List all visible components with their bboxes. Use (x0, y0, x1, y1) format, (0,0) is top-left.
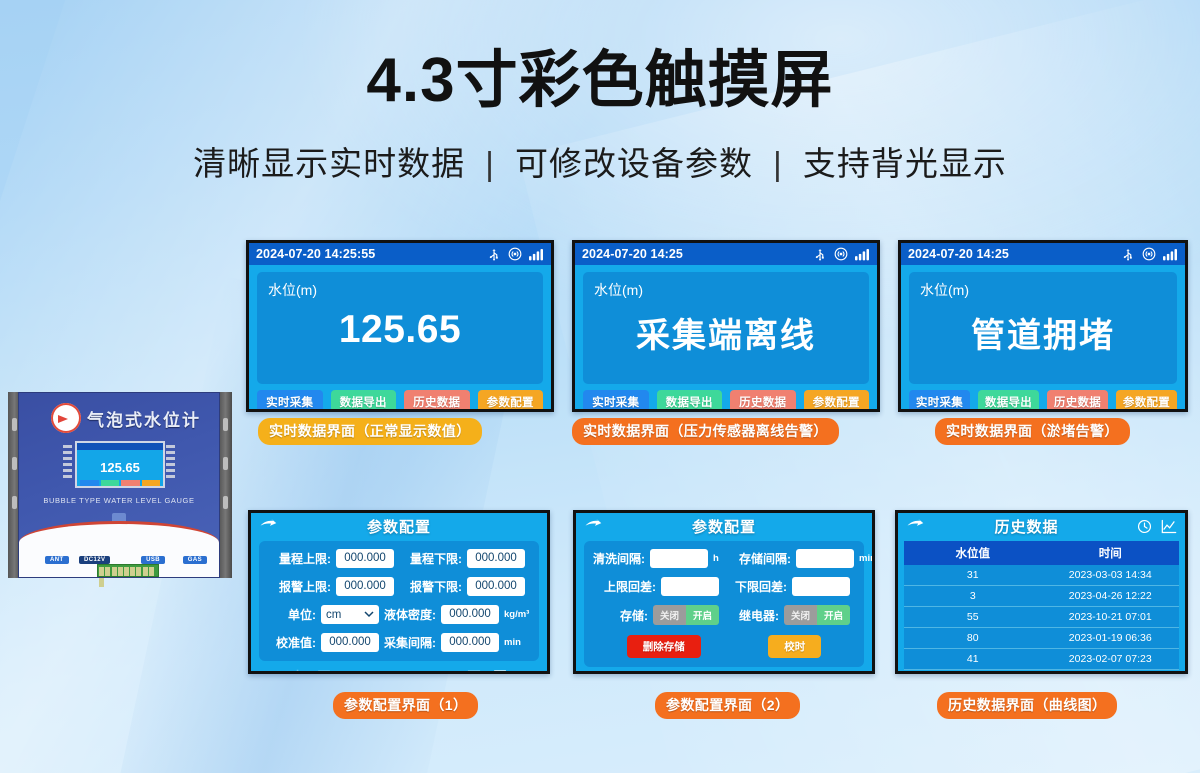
subtitle-part-2: 可修改设备参数 (515, 145, 753, 182)
statusbar: 2024-07-20 14:25 (901, 243, 1185, 265)
delete-storage-button[interactable]: 删除存储 (627, 635, 701, 658)
field-calibration[interactable]: 校准值: 000.000 (268, 633, 384, 652)
statusbar-icons (1120, 247, 1178, 261)
field-unit: min (859, 553, 875, 564)
field-lower-hysteresis[interactable]: 下限回差: (724, 577, 855, 596)
statusbar: 2024-07-20 14:25 (575, 243, 877, 265)
page-subtitle: 清晰显示实时数据 | 可修改设备参数 | 支持背光显示 (0, 137, 1200, 185)
btn-realtime-collect[interactable]: 实时采集 (909, 390, 970, 412)
readout-unit-label: 水位(m) (268, 280, 532, 300)
toggle-storage[interactable]: 存储: 关闭 开启 (593, 605, 724, 625)
lcd-body: 水位(m) 125.65 实时采集 数据导出 历史数据 参数配置 (249, 265, 551, 412)
statusbar-clock: 2024-07-20 14:25:55 (256, 247, 375, 261)
cell-level: 55 (904, 611, 1042, 623)
screen-realtime-clog[interactable]: 2024-07-20 14:25 水位(m) 管道拥堵 实时采集 (898, 240, 1188, 412)
config-action-row: 删除存储 校时 (593, 635, 855, 658)
readout-unit-label: 水位(m) (920, 280, 1166, 300)
back-arrow-icon[interactable] (584, 518, 602, 534)
cell-level: 41 (904, 653, 1042, 665)
table-row[interactable]: 41 2023-02-07 07:23 (904, 649, 1179, 670)
antenna-signal-icon (1142, 247, 1156, 261)
cell-level: 80 (904, 632, 1042, 644)
field-upper-hysteresis[interactable]: 上限回差: (593, 577, 724, 596)
device-brand-label: 气泡式水位计 (87, 406, 201, 431)
device-logo-icon (51, 403, 81, 433)
field-range-upper[interactable]: 量程上限: 000.000 (268, 549, 399, 568)
history-header: 历史数据 (898, 513, 1185, 539)
readout-card: 水位(m) 采集端离线 (583, 272, 869, 384)
toggle-on-option[interactable]: 开启 (817, 605, 850, 625)
back-arrow-icon[interactable] (259, 518, 277, 534)
page-header: 4.3寸彩色触摸屏 清晰显示实时数据 | 可修改设备参数 | 支持背光显示 (0, 48, 1200, 185)
device-lcd-statusbar (77, 443, 163, 450)
btn-history-data[interactable]: 历史数据 (1047, 390, 1108, 412)
field-liquid-density[interactable]: 液体密度: 000.000 kg/m³ (384, 605, 530, 624)
lcd-body: 水位(m) 管道拥堵 实时采集 数据导出 历史数据 参数配置 (901, 265, 1185, 412)
config-header: 参数配置 (576, 513, 872, 539)
signal-bars-icon (1163, 248, 1178, 261)
lcd-body: 水位(m) 采集端离线 实时采集 数据导出 历史数据 参数配置 (575, 265, 877, 412)
cell-time: 2023-01-19 06:36 (1042, 632, 1180, 644)
field-collect-interval[interactable]: 采集间隔: 000.000 min (384, 633, 530, 652)
statusbar-clock: 2024-07-20 14:25 (582, 247, 683, 261)
table-row[interactable]: 55 2023-10-21 07:01 (904, 607, 1179, 628)
field-label: 量程上限: (279, 550, 331, 567)
field-label: 报警上限: (279, 578, 331, 595)
btn-history-data[interactable]: 历史数据 (730, 390, 796, 412)
toggle-relay[interactable]: 继电器: 关闭 开启 (724, 605, 855, 625)
caption-config-2: 参数配置界面（2） (655, 692, 800, 719)
config-row: 单位: cm 液体密度: 000.000 kg/m³ (268, 605, 530, 624)
field-input[interactable]: 000.000 (336, 549, 394, 568)
config-pager: ❮ 上一页 下一页 ❯ (576, 667, 872, 674)
caption-history: 历史数据界面（曲线图） (937, 692, 1117, 719)
subtitle-separator-1: | (475, 145, 505, 182)
unit-dropdown-value: cm (326, 609, 341, 621)
chevron-down-icon (364, 611, 374, 618)
device-port-dc12v: DC12V (79, 556, 110, 564)
config-row: 清洗间隔: h 存储间隔: min (593, 549, 855, 568)
caption-config-1: 参数配置界面（1） (333, 692, 478, 719)
btn-history-data[interactable]: 历史数据 (404, 390, 470, 412)
field-wash-interval[interactable]: 清洗间隔: h (593, 549, 739, 568)
cell-time: 2023-04-26 12:22 (1042, 590, 1180, 602)
relay-toggle[interactable]: 关闭 开启 (784, 605, 850, 625)
usb-icon (812, 248, 827, 261)
readout-card: 水位(m) 管道拥堵 (909, 272, 1177, 384)
config-pager: ❮ 上一页 下一页 ❯ (251, 661, 547, 674)
field-input[interactable] (792, 577, 850, 596)
field-range-lower[interactable]: 量程下限: 000.000 (399, 549, 530, 568)
device-lcd-buttons (80, 480, 160, 487)
caption-realtime-normal: 实时数据界面（正常显示数值） (258, 418, 482, 445)
usb-icon (1120, 248, 1135, 261)
screen-config-1[interactable]: 参数配置 量程上限: 000.000 量程下限: 000.000 报警上限: 0… (248, 510, 550, 674)
config-title: 参数配置 (602, 516, 846, 537)
config-row: 量程上限: 000.000 量程下限: 000.000 (268, 549, 530, 568)
field-unit: h (713, 553, 739, 564)
btn-data-export[interactable]: 数据导出 (978, 390, 1039, 412)
line-chart-icon[interactable] (1161, 519, 1177, 534)
history-title: 历史数据 (924, 516, 1129, 537)
screen-config-2[interactable]: 参数配置 清洗间隔: h 存储间隔: min 上限回差: 下限回差: (573, 510, 875, 674)
toggle-off-option[interactable]: 关闭 (653, 605, 686, 625)
field-alarm-upper[interactable]: 报警上限: 000.000 (268, 577, 399, 596)
cell-time: 2023-02-07 07:23 (1042, 653, 1180, 665)
field-unit-select[interactable]: 单位: cm (268, 605, 384, 624)
toggle-label: 继电器: (739, 607, 779, 624)
toggle-on-option[interactable]: 开启 (686, 605, 719, 625)
device-port-gas: GAS (183, 556, 207, 564)
cell-level: 3 (904, 590, 1042, 602)
btn-data-export[interactable]: 数据导出 (331, 390, 397, 412)
prev-page-label: 上一页 (292, 669, 331, 674)
config-row: 报警上限: 000.000 报警下限: 000.000 (268, 577, 530, 596)
field-label: 上限回差: (604, 578, 656, 595)
signal-bars-icon (855, 248, 870, 261)
cell-time: 2023-10-21 07:01 (1042, 611, 1180, 623)
nav-buttons: 实时采集 数据导出 历史数据 参数配置 (257, 384, 543, 412)
caption-realtime-clog: 实时数据界面（淤堵告警） (935, 418, 1130, 445)
device-port-usb: USB (141, 556, 165, 564)
table-row[interactable]: 80 2023-01-19 06:36 (904, 628, 1179, 649)
btn-data-export[interactable]: 数据导出 (657, 390, 723, 412)
column-header-time: 时间 (1042, 545, 1180, 561)
subtitle-part-1: 清晰显示实时数据 (193, 145, 465, 182)
next-page-button[interactable]: 下一页 ❯ (792, 672, 846, 674)
statusbar-icons (812, 247, 870, 261)
field-label: 清洗间隔: (593, 550, 645, 567)
field-label: 量程下限: (410, 550, 462, 567)
clock-icon[interactable] (1137, 519, 1152, 534)
next-page-label: 下一页 (467, 669, 506, 674)
screen-history[interactable]: 历史数据 水位值 时间 31 2023-03-03 14:34 3 2023-0… (895, 510, 1188, 674)
readout-alarm-text: 管道拥堵 (909, 308, 1177, 357)
column-header-level: 水位值 (904, 545, 1042, 561)
field-input[interactable] (650, 549, 708, 568)
readout-unit-label: 水位(m) (594, 280, 858, 300)
config-fields-card: 量程上限: 000.000 量程下限: 000.000 报警上限: 000.00… (259, 541, 539, 661)
history-table: 水位值 时间 31 2023-03-03 14:34 3 2023-04-26 … (904, 541, 1179, 670)
table-row[interactable]: 31 2023-03-03 14:34 (904, 565, 1179, 586)
screen-realtime-offline[interactable]: 2024-07-20 14:25 水位(m) 采集端离线 实时采集 (572, 240, 880, 412)
history-table-header: 水位值 时间 (904, 541, 1179, 565)
device-port-ant: ANT (45, 556, 69, 564)
caption-realtime-offline: 实时数据界面（压力传感器离线告警） (572, 418, 839, 445)
field-storage-interval[interactable]: 存储间隔: min (739, 549, 875, 568)
nav-buttons: 实时采集 数据导出 历史数据 参数配置 (909, 384, 1177, 412)
next-page-button[interactable]: 下一页 ❯ (467, 666, 521, 674)
device-vent-left (63, 445, 72, 485)
config-row: 校准值: 000.000 采集间隔: 000.000 min (268, 633, 530, 652)
config-fields-card: 清洗间隔: h 存储间隔: min 上限回差: 下限回差: (584, 541, 864, 667)
readout-alarm-text: 采集端离线 (583, 308, 869, 357)
field-input[interactable] (796, 549, 854, 568)
btn-realtime-collect[interactable]: 实时采集 (257, 390, 323, 412)
storage-toggle[interactable]: 关闭 开启 (653, 605, 719, 625)
config-row: 存储: 关闭 开启 继电器: 关闭 开启 (593, 605, 855, 625)
device-terminal-block (97, 564, 159, 577)
time-sync-button[interactable]: 校时 (768, 635, 821, 658)
field-alarm-lower[interactable]: 报警下限: 000.000 (399, 577, 530, 596)
toggle-off-option[interactable]: 关闭 (784, 605, 817, 625)
device-mount-rail-right (219, 392, 232, 578)
field-label: 存储间隔: (739, 550, 791, 567)
statusbar: 2024-07-20 14:25:55 (249, 243, 551, 265)
field-unit: kg/m³ (504, 609, 530, 620)
device-model-caption: BUBBLE TYPE WATER LEVEL GAUGE (19, 496, 219, 505)
field-label: 下限回差: (735, 578, 787, 595)
field-input[interactable]: 000.000 (321, 633, 379, 652)
device-lcd-preview: 125.65 (75, 441, 165, 488)
field-label: 报警下限: (410, 578, 462, 595)
device-lcd-value: 125.65 (77, 460, 163, 475)
btn-realtime-collect[interactable]: 实时采集 (583, 390, 649, 412)
readout-value: 125.65 (257, 308, 543, 352)
device-body: 气泡式水位计 125.65 BUBBLE TYPE WATER LEVEL GA… (18, 392, 220, 578)
field-label: 采集间隔: (384, 634, 436, 651)
btn-param-config[interactable]: 参数配置 (804, 390, 870, 412)
field-label: 液体密度: (384, 606, 436, 623)
toggle-label: 存储: (620, 607, 648, 624)
btn-param-config[interactable]: 参数配置 (1116, 390, 1177, 412)
device-vent-right (166, 445, 175, 485)
statusbar-clock: 2024-07-20 14:25 (908, 247, 1009, 261)
field-input[interactable]: 000.000 (336, 577, 394, 596)
signal-bars-icon (529, 248, 544, 261)
subtitle-part-3: 支持背光显示 (803, 145, 1007, 182)
history-header-icons (1129, 519, 1177, 534)
table-row[interactable]: 3 2023-04-26 12:22 (904, 586, 1179, 607)
antenna-signal-icon (834, 247, 848, 261)
field-input[interactable]: 000.000 (467, 549, 525, 568)
field-label: 单位: (288, 606, 316, 623)
config-row: 上限回差: 下限回差: (593, 577, 855, 596)
page-title: 4.3寸彩色触摸屏 (0, 48, 1200, 115)
statusbar-icons (486, 247, 544, 261)
field-input[interactable]: 000.000 (441, 605, 499, 624)
usb-icon (486, 248, 501, 261)
unit-dropdown[interactable]: cm (321, 605, 379, 624)
config-header: 参数配置 (251, 513, 547, 539)
history-footer: 当前第 5 页，共 21 页 上一页 下一页 (898, 670, 1185, 674)
field-label: 校准值: (276, 634, 316, 651)
readout-card: 水位(m) 125.65 (257, 272, 543, 384)
cell-level: 31 (904, 569, 1042, 581)
antenna-signal-icon (508, 247, 522, 261)
cell-time: 2023-03-03 14:34 (1042, 569, 1180, 581)
field-unit: min (504, 637, 530, 648)
back-arrow-icon[interactable] (906, 518, 924, 534)
field-input[interactable] (661, 577, 719, 596)
prev-page-button[interactable]: ❮ 上一页 (277, 666, 331, 674)
config-title: 参数配置 (277, 516, 521, 537)
field-input[interactable]: 000.000 (467, 577, 525, 596)
btn-param-config[interactable]: 参数配置 (478, 390, 544, 412)
screen-realtime-normal[interactable]: 2024-07-20 14:25:55 水位(m) 125.65 实时采 (246, 240, 554, 412)
device-photo: 气泡式水位计 125.65 BUBBLE TYPE WATER LEVEL GA… (8, 372, 232, 600)
field-input[interactable]: 000.000 (441, 633, 499, 652)
subtitle-separator-2: | (763, 145, 793, 182)
prev-page-button[interactable]: ❮ 上一页 (602, 672, 656, 674)
nav-buttons: 实时采集 数据导出 历史数据 参数配置 (583, 384, 869, 412)
